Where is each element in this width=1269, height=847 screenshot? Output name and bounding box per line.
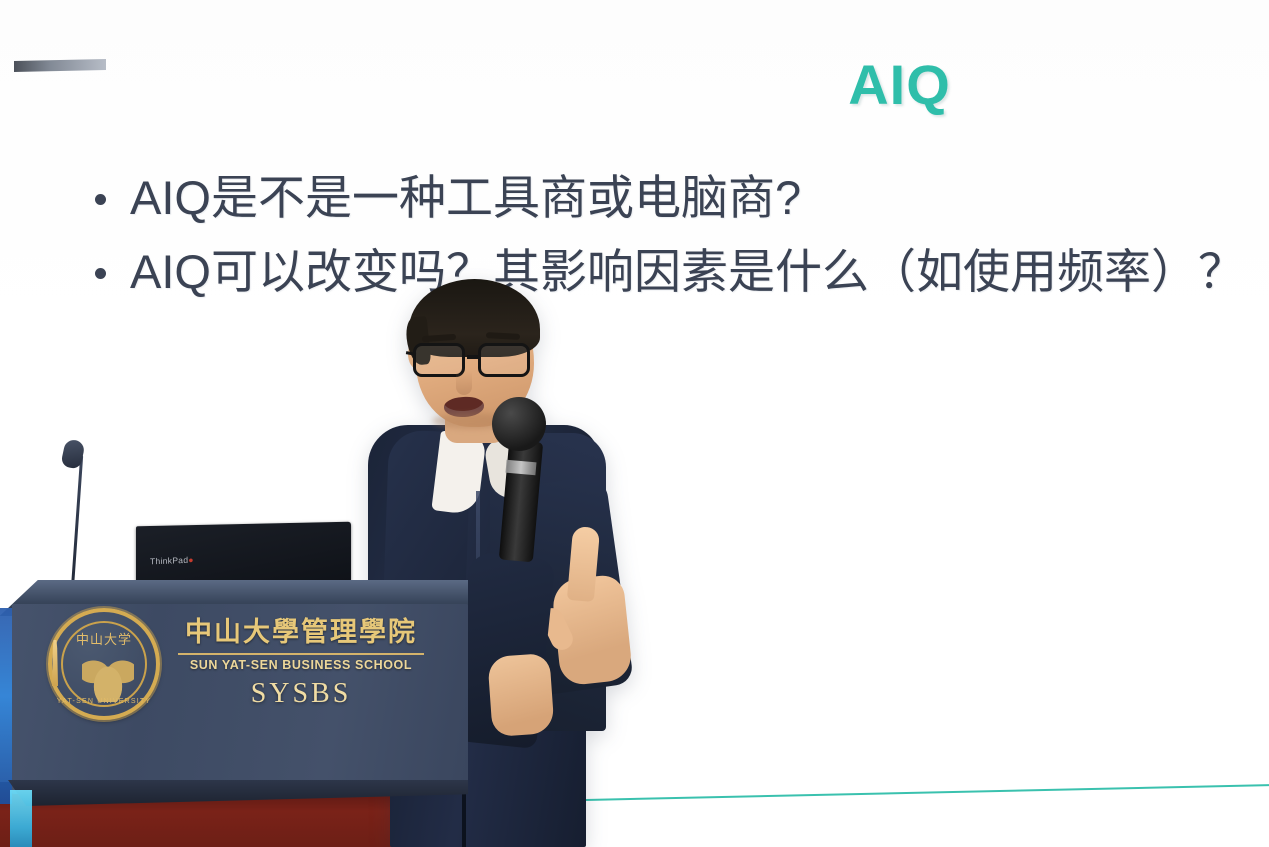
slide-bullet-list: AIQ是不是一种工具商或电脑商? AIQ可以改变吗？其影响因素是什么（如使用频率… — [95, 168, 1269, 316]
glasses-lens-right — [478, 343, 530, 377]
speaker-hand-holding-mic — [487, 653, 554, 737]
laptop-lid: ThinkPad● — [136, 522, 351, 587]
list-item: AIQ可以改变吗？其影响因素是什么（如使用频率）？ — [95, 242, 1269, 302]
podium-name-cn: 中山大學管理學院 — [176, 610, 426, 649]
podium-foot-light — [10, 790, 32, 847]
podium-abbreviation: SYSBS — [176, 678, 426, 710]
seal-chinese-text: 中山大学 — [52, 629, 156, 648]
glasses-bridge — [467, 355, 480, 359]
laptop-sticker — [14, 59, 106, 72]
bullet-text: AIQ可以改变吗？其影响因素是什么（如使用频率）？ — [130, 242, 1245, 302]
presentation-photo: AIQ AIQ是不是一种工具商或电脑商? AIQ可以改变吗？其影响因素是什么（如… — [0, 0, 1269, 847]
seal-arc-bottom-text: YAT-SEN UNIVERSITY — [52, 698, 156, 705]
handheld-mic-band — [505, 460, 536, 476]
slide-title: AIQ — [0, 52, 1269, 117]
podium-name-divider — [178, 653, 424, 655]
podium-edge-light — [0, 608, 12, 804]
bullet-dot-icon — [95, 268, 106, 279]
podium-name-en: SUN YAT-SEN BUSINESS SCHOOL — [176, 658, 426, 672]
bullet-dot-icon — [95, 194, 106, 205]
list-item: AIQ是不是一种工具商或电脑商? — [95, 168, 1269, 228]
podium-lettering: 中山大學管理學院 SUN YAT-SEN BUSINESS SCHOOL SYS… — [176, 610, 426, 710]
thinkpad-logo: ThinkPad● — [150, 555, 194, 567]
university-seal-icon: 中山大学 YAT-SEN UNIVERSITY — [48, 608, 160, 720]
handheld-mic-head-icon — [492, 397, 546, 451]
glasses-icon — [412, 343, 538, 377]
podium-bottom-bevel — [8, 780, 468, 806]
bullet-text: AIQ是不是一种工具商或电脑商? — [130, 168, 801, 228]
seal-emblem — [82, 650, 134, 702]
speaker-nose — [456, 371, 472, 395]
